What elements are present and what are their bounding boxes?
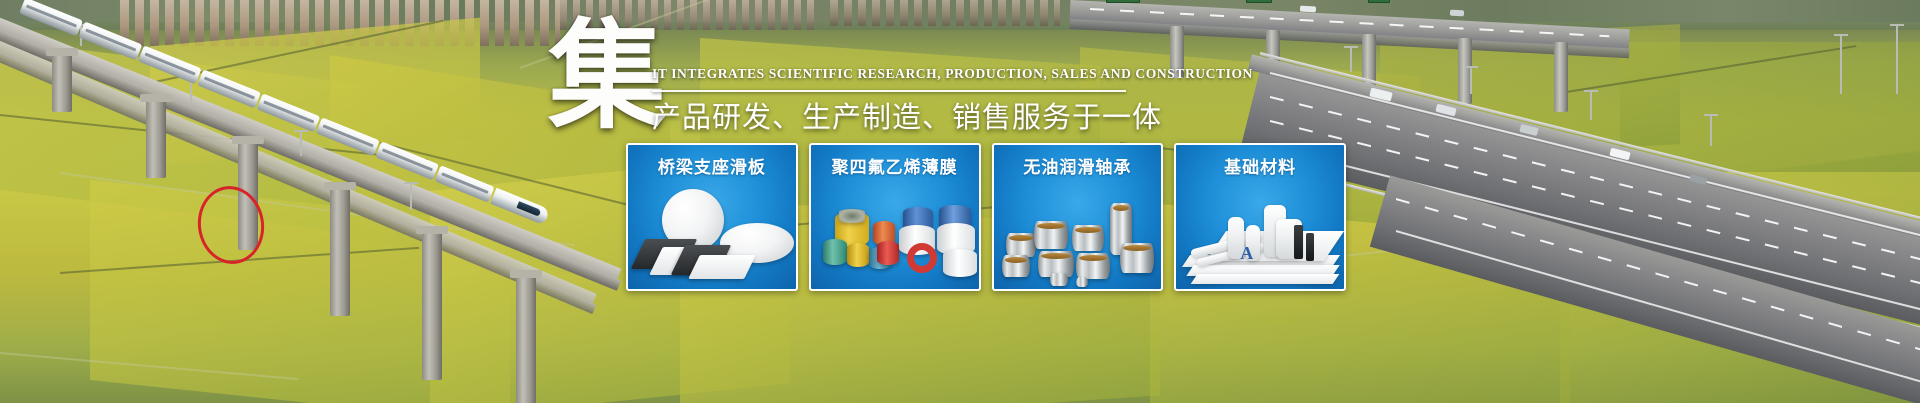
product-card-base-materials[interactable]: 基础材料 A — [1174, 143, 1346, 291]
product-card-title: 桥梁支座滑板 — [628, 153, 796, 178]
headline-block: 集 IT INTEGRATES SCIENTIFIC RESEARCH, PRO… — [548, 18, 1148, 148]
product-card-ptfe-film[interactable]: 聚四氟乙烯薄膜 — [809, 143, 981, 291]
vehicle — [1450, 10, 1464, 17]
product-card-title: 聚四氟乙烯薄膜 — [811, 153, 979, 178]
product-card-oil-free-bearing[interactable]: 无油润滑轴承 — [992, 143, 1164, 291]
highway-gantry-sign — [1106, 0, 1140, 3]
high-speed-train — [11, 0, 601, 267]
hero-banner: 集 IT INTEGRATES SCIENTIFIC RESEARCH, PRO… — [0, 0, 1920, 403]
train-windshield — [516, 201, 541, 216]
product-card-title: 无油润滑轴承 — [994, 153, 1162, 178]
chinese-subtitle: 产品研发、生产制造、销售服务于一体 — [652, 98, 1162, 138]
english-tagline: IT INTEGRATES SCIENTIFIC RESEARCH, PRODU… — [652, 66, 1122, 82]
vehicle — [1300, 6, 1316, 13]
headline-big-character: 集 — [548, 18, 666, 136]
product-image-bridge-bearing-slide-plate — [628, 181, 796, 289]
product-image-oil-free-bearing — [994, 181, 1162, 289]
product-card-title: 基础材料 — [1176, 153, 1344, 178]
product-card-list: 桥梁支座滑板 聚四氟乙烯薄膜 — [626, 143, 1346, 291]
product-image-ptfe-film — [811, 181, 979, 289]
product-card-bridge-bearing-slide-plate[interactable]: 桥梁支座滑板 — [626, 143, 798, 291]
product-image-base-materials: A — [1176, 181, 1344, 289]
headline-divider — [652, 90, 1126, 92]
